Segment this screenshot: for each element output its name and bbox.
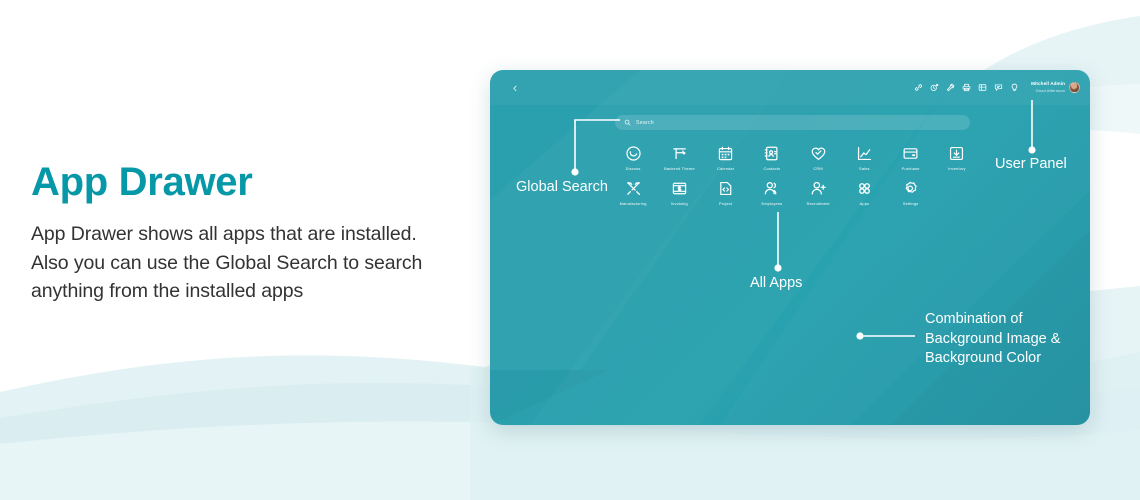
search-icon	[624, 119, 631, 126]
activity-clock-icon[interactable]	[930, 83, 939, 92]
search-input[interactable]: Search	[615, 115, 970, 130]
app-label: Manufacturing	[620, 201, 647, 206]
app-item-sales[interactable]: Sales	[841, 145, 887, 171]
app-label: CRM	[813, 166, 822, 171]
systray: Mitchell Admin Good Afternoon	[914, 82, 1080, 93]
app-label: Purchase	[902, 166, 920, 171]
debug-wrench-icon[interactable]	[946, 83, 955, 92]
app-item-contacts[interactable]: Contacts	[749, 145, 795, 171]
apps-dots-icon	[856, 180, 873, 197]
user-text: Mitchell Admin Good Afternoon	[1031, 82, 1065, 92]
invoicing-dollar-icon	[671, 180, 688, 197]
app-item-backend-theme[interactable]: Backend Theme	[656, 145, 702, 171]
app-item-settings[interactable]: Settings	[888, 180, 934, 206]
app-label: Inventory	[948, 166, 966, 171]
drawer-top-bar: ‹ Mitc	[490, 70, 1090, 105]
app-label: Backend Theme	[664, 166, 695, 171]
app-item-employees[interactable]: Employees	[749, 180, 795, 206]
grid-apps-icon[interactable]	[978, 83, 987, 92]
annotation-global-search: Global Search	[516, 178, 608, 197]
link-icon[interactable]	[914, 83, 923, 92]
chevron-left-icon[interactable]: ‹	[508, 81, 522, 95]
app-item-crm[interactable]: CRM	[795, 145, 841, 171]
app-label: Contacts	[763, 166, 780, 171]
backend-theme-icon	[671, 145, 688, 162]
print-icon[interactable]	[962, 83, 971, 92]
contacts-icon	[763, 145, 780, 162]
recruitment-user-plus-icon	[810, 180, 827, 197]
messages-icon[interactable]	[994, 83, 1003, 92]
avatar[interactable]	[1069, 82, 1080, 93]
app-label: Employees	[761, 201, 782, 206]
annotation-all-apps: All Apps	[750, 274, 802, 293]
sales-chart-icon	[856, 145, 873, 162]
app-item-project[interactable]: Project	[703, 180, 749, 206]
app-item-recruitment[interactable]: Recruitment	[795, 180, 841, 206]
app-item-invoicing[interactable]: Invoicing	[656, 180, 702, 206]
intro-copy-block: App Drawer App Drawer shows all apps tha…	[31, 158, 431, 306]
app-item-manufacturing[interactable]: Manufacturing	[610, 180, 656, 206]
bulb-icon[interactable]	[1010, 83, 1019, 92]
project-code-icon	[717, 180, 734, 197]
settings-gear-icon	[902, 180, 919, 197]
app-label: Recruitment	[807, 201, 830, 206]
app-label: Apps	[860, 201, 870, 206]
user-panel[interactable]: Mitchell Admin Good Afternoon	[1031, 82, 1080, 93]
app-item-inventory[interactable]: Inventory	[934, 145, 980, 171]
inventory-box-icon	[948, 145, 965, 162]
app-item-discuss[interactable]: Discuss	[610, 145, 656, 171]
annotation-user-panel: User Panel	[995, 155, 1067, 174]
employees-icon	[763, 180, 780, 197]
app-item-apps[interactable]: Apps	[841, 180, 887, 206]
page-title: App Drawer	[31, 158, 431, 206]
app-label: Sales	[859, 166, 870, 171]
crm-heart-icon	[810, 145, 827, 162]
app-label: Settings	[903, 201, 919, 206]
app-label: Project	[719, 201, 732, 206]
app-label: Invoicing	[671, 201, 688, 206]
calendar-icon	[717, 145, 734, 162]
app-label: Calendar	[717, 166, 734, 171]
search-placeholder: Search	[636, 120, 654, 126]
app-grid: Discuss Backend Theme Calendar	[610, 145, 980, 206]
app-item-calendar[interactable]: Calendar	[703, 145, 749, 171]
user-greeting: Good Afternoon	[1036, 89, 1065, 93]
manufacturing-tools-icon	[625, 180, 642, 197]
annotation-background-combination: Combination of Background Image & Backgr…	[925, 310, 1060, 369]
app-item-purchase[interactable]: Purchase	[888, 145, 934, 171]
user-name: Mitchell Admin	[1031, 82, 1065, 87]
app-drawer-panel: ‹ Mitc	[490, 70, 1090, 425]
purchase-card-icon	[902, 145, 919, 162]
page-description: App Drawer shows all apps that are insta…	[31, 220, 431, 306]
app-label: Discuss	[626, 166, 641, 171]
discuss-icon	[625, 145, 642, 162]
